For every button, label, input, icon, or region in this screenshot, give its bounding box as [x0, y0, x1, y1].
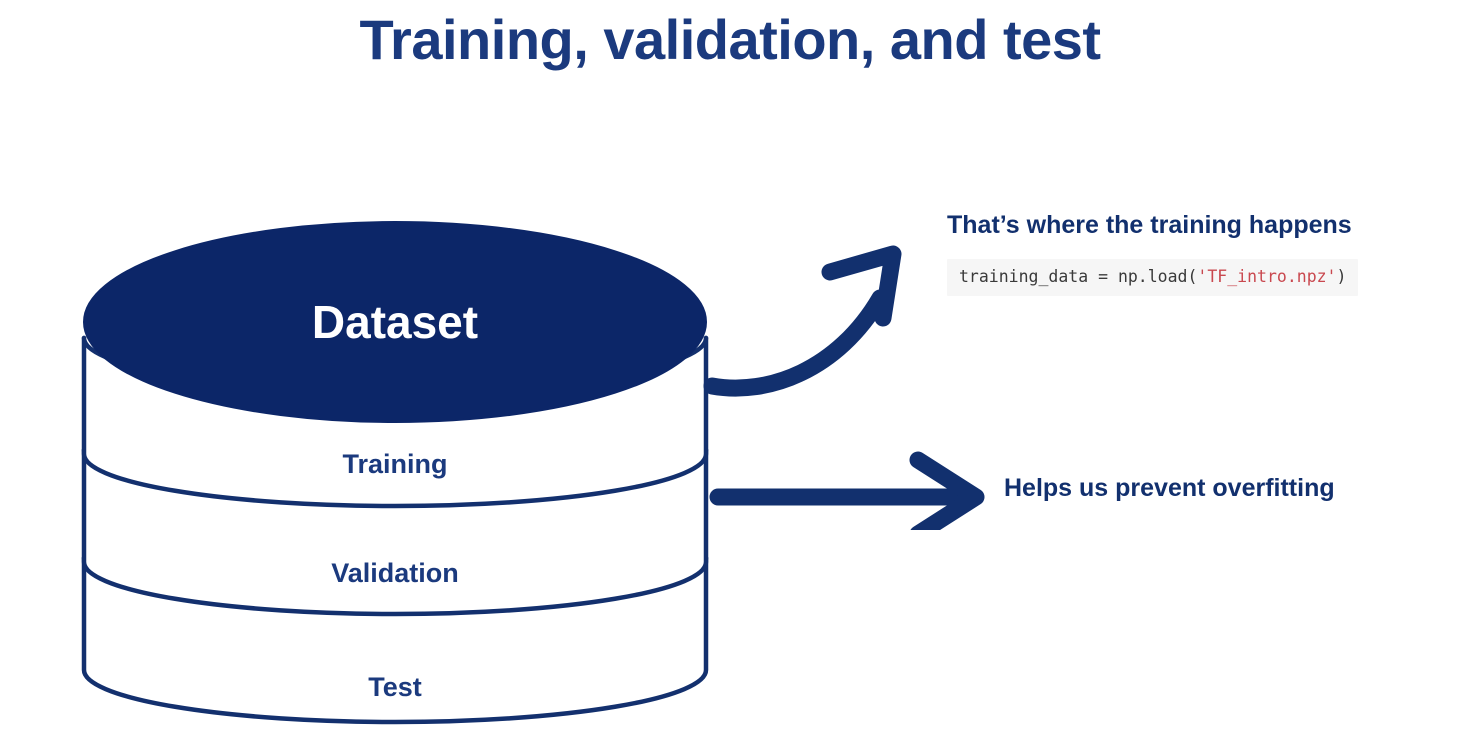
annotation-training: That’s where the training happens traini…: [947, 208, 1457, 296]
dataset-cylinder-diagram: Dataset Training Validation Test: [70, 210, 720, 740]
annotation-training-text: That’s where the training happens: [947, 208, 1457, 242]
cylinder-segment-label-test: Test: [368, 672, 422, 702]
cylinder-top-label: Dataset: [312, 296, 478, 348]
cylinder-segment-label-validation: Validation: [331, 558, 459, 588]
code-prefix: training_data = np.load(: [959, 267, 1197, 286]
code-string-literal: 'TF_intro.npz': [1197, 267, 1336, 286]
straight-right-arrow: [718, 460, 976, 530]
cylinder-segment-label-training: Training: [342, 449, 447, 479]
code-line: training_data = np.load('TF_intro.npz'): [959, 266, 1346, 288]
annotation-overfitting-text: Helps us prevent overfitting: [1004, 471, 1335, 505]
code-block: training_data = np.load('TF_intro.npz'): [947, 259, 1358, 296]
page-title: Training, validation, and test: [0, 4, 1460, 76]
slide-canvas: Training, validation, and test Dataset T…: [0, 0, 1460, 729]
code-suffix: ): [1337, 267, 1347, 286]
curved-up-right-arrow: [712, 254, 893, 388]
